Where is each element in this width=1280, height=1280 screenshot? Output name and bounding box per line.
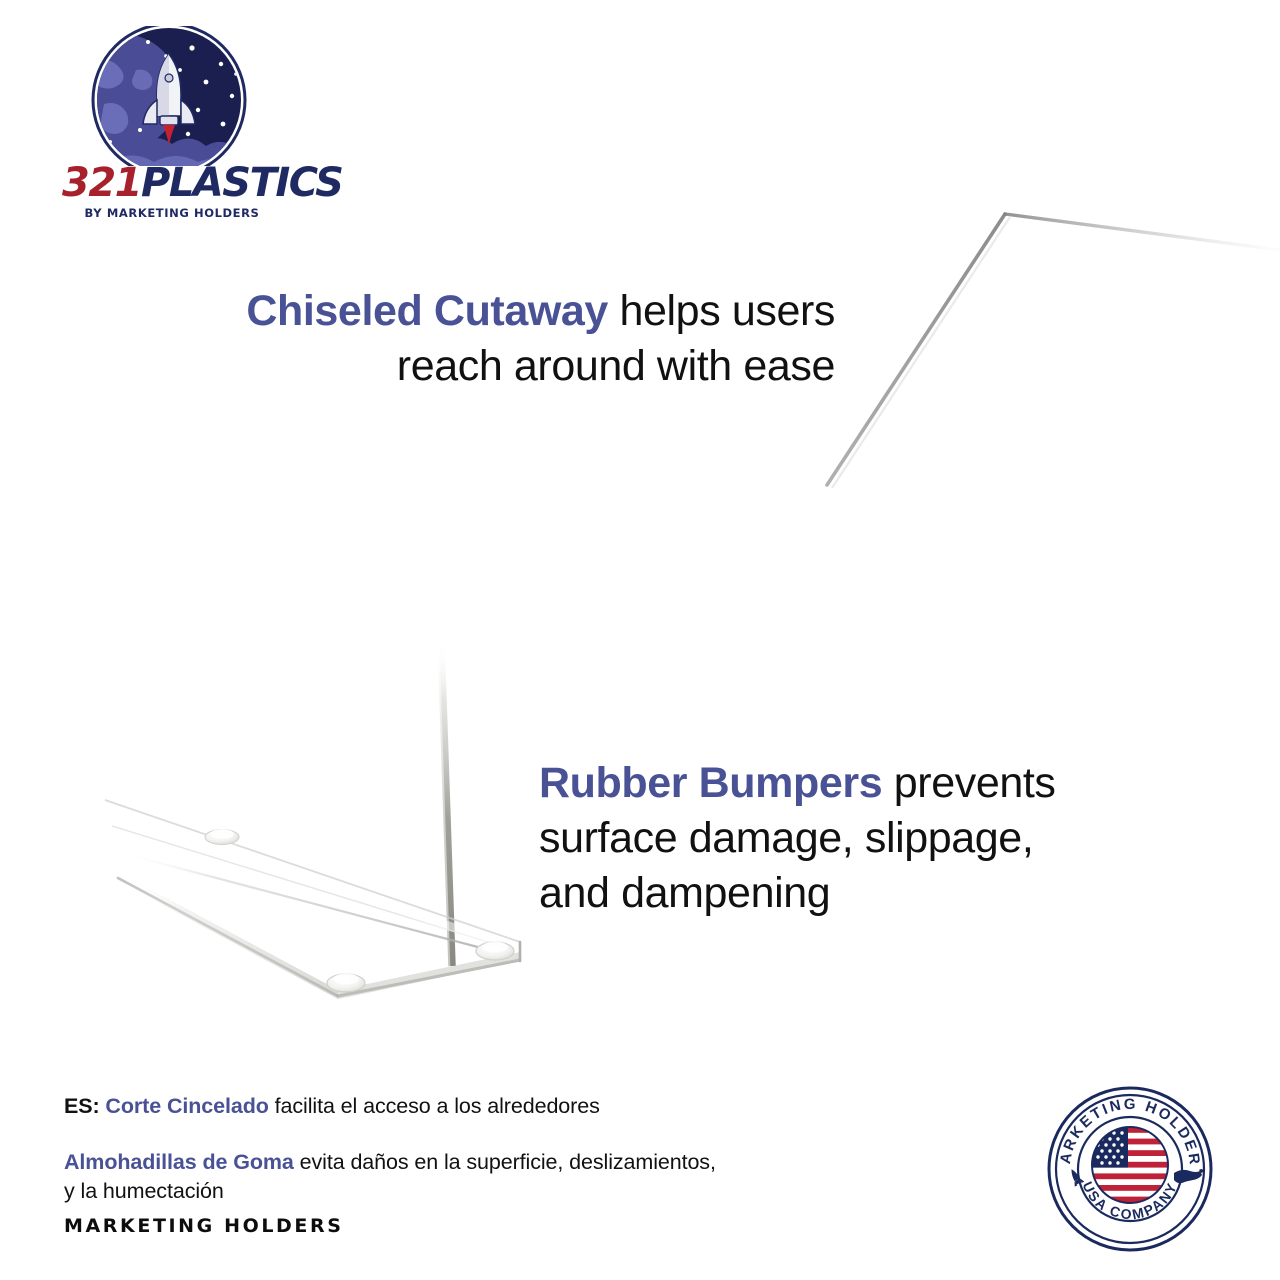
rubber-bumper (476, 942, 514, 961)
callout-rubber-bumpers: Rubber Bumpers prevents surface damage, … (539, 756, 1139, 921)
brand-logo: 321PLASTICS BY MARKETING HOLDERS (62, 26, 282, 206)
spanish-caption-block: ES: Corte Cincelado facilita el acceso a… (64, 1092, 964, 1205)
poster-canvas: 321PLASTICS BY MARKETING HOLDERS (0, 0, 1280, 1280)
callout-line2-chiseled-cutaway: reach around with ease (397, 342, 835, 390)
callout-line3-rubber-bumpers: and dampening (539, 869, 830, 917)
spanish-highlight-almohadillas: Almohadillas de Goma (64, 1150, 294, 1174)
logo-wordmark-number: 321 (62, 160, 141, 206)
usa-company-badge: MARKETING HOLDERS USA COMPANY (1046, 1085, 1214, 1253)
callout-rest-rubber-bumpers: prevents (882, 759, 1055, 807)
spanish-line-2: Almohadillas de Goma evita daños en la s… (64, 1148, 964, 1205)
support-post (438, 640, 452, 966)
spanish-highlight-corte-cincelado: Corte Cincelado (105, 1094, 268, 1118)
rocket-globe-emblem (80, 26, 258, 166)
logo-subtitle: BY MARKETING HOLDERS (62, 206, 282, 220)
callout-highlight-rubber-bumpers: Rubber Bumpers (539, 759, 882, 807)
spanish-line-1-rest: facilita el acceso a los alrededores (269, 1094, 600, 1118)
rubber-bumper (205, 829, 239, 845)
callout-line2-rubber-bumpers: surface damage, slippage, (539, 814, 1033, 862)
spanish-line-1: ES: Corte Cincelado facilita el acceso a… (64, 1092, 964, 1120)
callout-rest-chiseled-cutaway: helps users (608, 287, 835, 335)
spanish-line-3: y la humectación (64, 1179, 224, 1203)
callout-chiseled-cutaway: Chiseled Cutaway helps users reach aroun… (120, 284, 835, 394)
acrylic-panel (827, 214, 1280, 660)
logo-wordmark: 321PLASTICS (62, 163, 282, 203)
logo-wordmark-word: PLASTICS (141, 160, 342, 206)
rubber-bumper (327, 974, 365, 993)
marketing-holders-wordmark: MARKETING HOLDERS (64, 1215, 344, 1237)
rubber-bumpers (205, 829, 514, 992)
usa-map-icon (1174, 1169, 1203, 1183)
callout-highlight-chiseled-cutaway: Chiseled Cutaway (246, 287, 608, 335)
rocket-icon (1067, 1167, 1085, 1187)
spanish-prefix: ES: (64, 1094, 100, 1118)
acrylic-base-plate (105, 800, 520, 999)
spanish-line-2-rest: evita daños en la superficie, deslizamie… (294, 1150, 716, 1174)
